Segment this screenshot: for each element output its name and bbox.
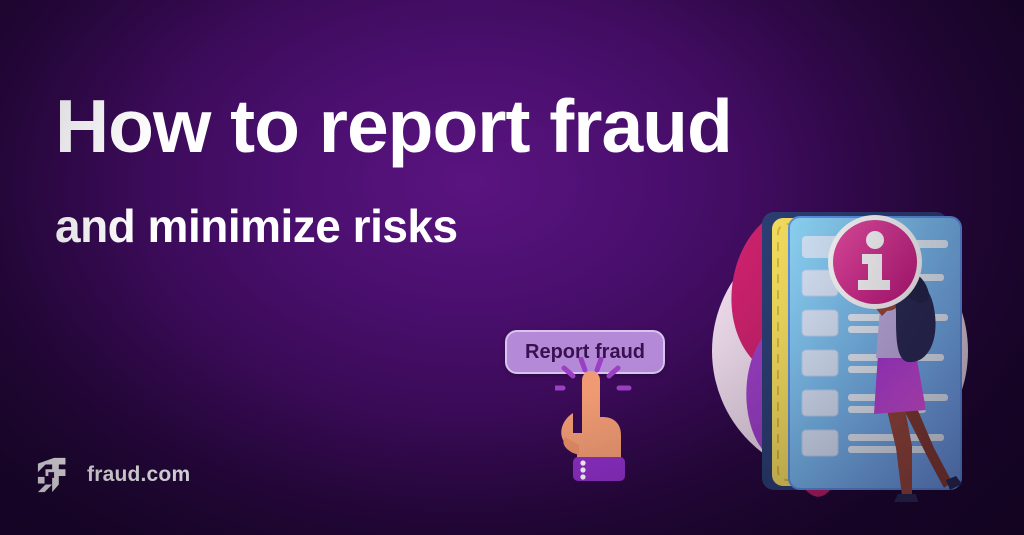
cta-group: Report fraud — [505, 330, 665, 374]
report-form-illustration — [690, 196, 990, 506]
page-subtitle: and minimize risks — [55, 200, 458, 252]
brand-logo-text: fraud.com — [87, 463, 190, 487]
illustration-svg — [690, 196, 990, 506]
brand-logo[interactable]: fraud.com — [36, 456, 190, 494]
page-title: How to report fraud — [55, 86, 732, 166]
cuff-dots-icon — [580, 460, 585, 479]
promo-banner: How to report fraud and minimize risks R… — [0, 0, 1024, 535]
pointing-hand-icon — [555, 357, 641, 488]
pointing-hand-svg — [555, 357, 641, 483]
info-circle-icon — [828, 215, 922, 309]
fraud-com-logo-mark — [36, 456, 74, 494]
